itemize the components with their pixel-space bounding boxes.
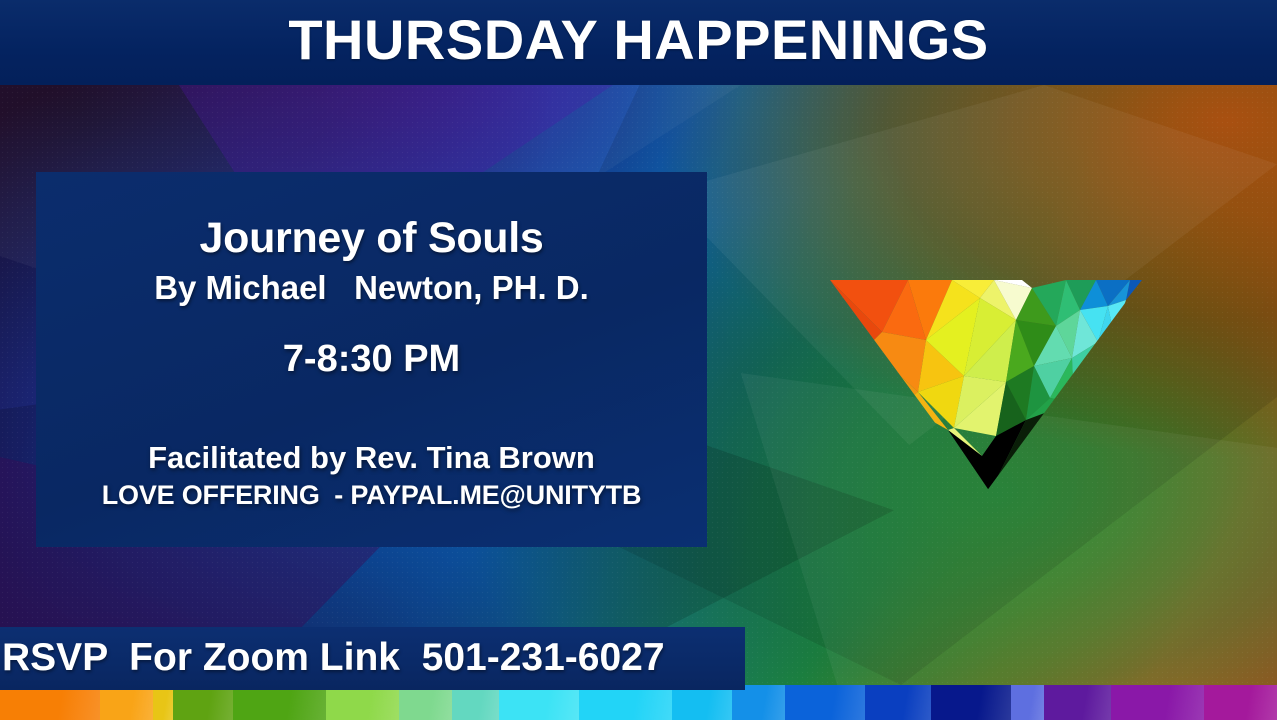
event-panel: Journey of Souls By Michael Newton, PH. … bbox=[36, 172, 707, 547]
bottom-strip-segment bbox=[173, 685, 233, 720]
bottom-strip-segment bbox=[0, 685, 100, 720]
bottom-strip-segment bbox=[1011, 685, 1044, 720]
event-offering: LOVE OFFERING - PAYPAL.ME@UNITYTB bbox=[102, 481, 642, 509]
rsvp-text: RSVP For Zoom Link 501-231-6027 bbox=[0, 638, 665, 677]
rsvp-bar: RSVP For Zoom Link 501-231-6027 bbox=[0, 627, 745, 690]
bottom-strip-segment bbox=[865, 685, 932, 720]
bottom-color-strip bbox=[0, 685, 1277, 720]
bottom-strip-segment bbox=[785, 685, 865, 720]
event-author: By Michael Newton, PH. D. bbox=[154, 271, 589, 306]
bottom-strip-segment bbox=[100, 685, 153, 720]
bottom-strip-segment bbox=[452, 685, 499, 720]
bottom-strip-segment bbox=[931, 685, 1011, 720]
slide-canvas: THURSDAY HAPPENINGS Journey of Souls By … bbox=[0, 0, 1277, 720]
bottom-strip-segment bbox=[1111, 685, 1204, 720]
event-title: Journey of Souls bbox=[199, 216, 543, 261]
bottom-strip-segment bbox=[1204, 685, 1277, 720]
bottom-strip-segment bbox=[1044, 685, 1111, 720]
bottom-strip-segment bbox=[326, 685, 399, 720]
bottom-strip-segment bbox=[732, 685, 785, 720]
header-bar: THURSDAY HAPPENINGS bbox=[0, 0, 1277, 85]
page-title: THURSDAY HAPPENINGS bbox=[0, 0, 1277, 85]
bottom-strip-segment bbox=[399, 685, 452, 720]
unity-triangle-logo-icon bbox=[830, 280, 1142, 492]
bottom-strip-segment bbox=[153, 685, 173, 720]
event-facilitator: Facilitated by Rev. Tina Brown bbox=[148, 442, 595, 475]
bottom-strip-segment bbox=[672, 685, 732, 720]
bottom-strip-segment bbox=[499, 685, 579, 720]
bottom-strip-segment bbox=[233, 685, 326, 720]
bottom-strip-segment bbox=[579, 685, 672, 720]
event-time: 7-8:30 PM bbox=[283, 340, 460, 380]
